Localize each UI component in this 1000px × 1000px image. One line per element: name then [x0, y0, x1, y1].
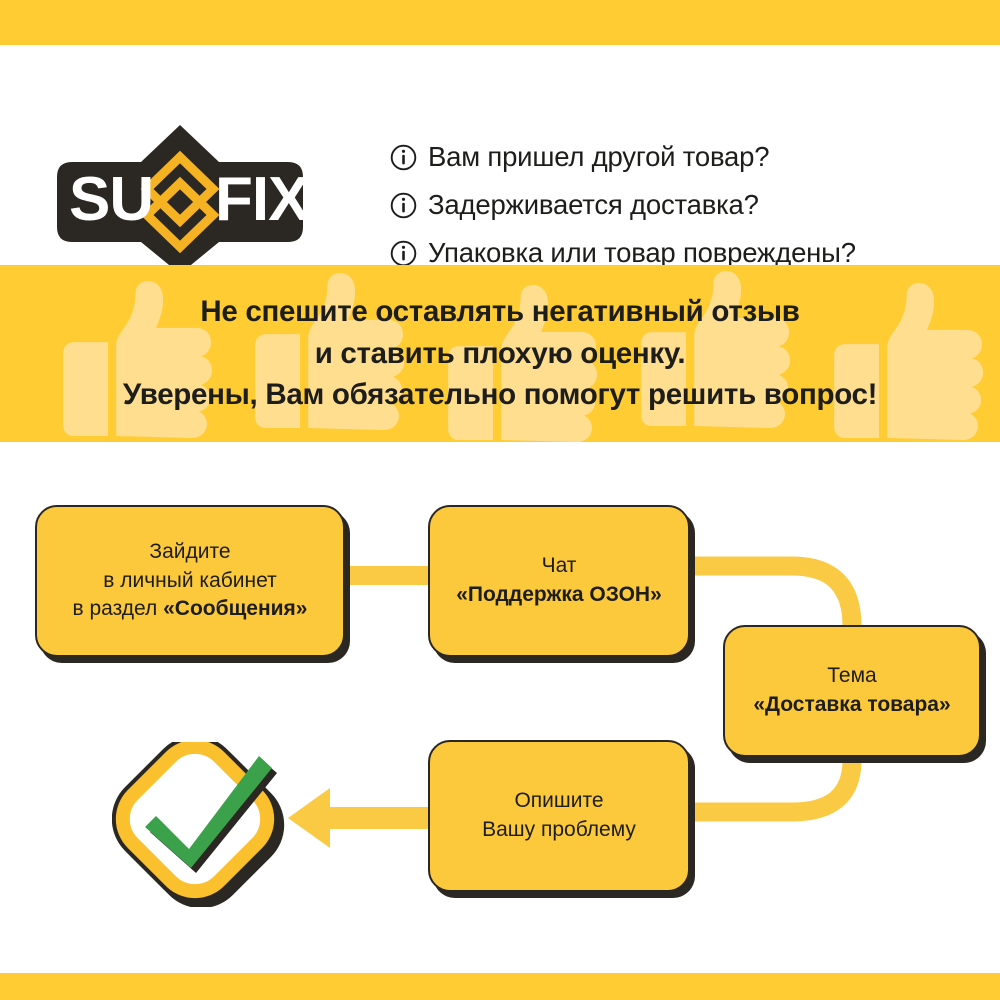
svg-text:FIX: FIX — [215, 165, 309, 234]
step-3-line-1: Тема — [827, 662, 876, 691]
step-2-line-2: «Поддержка ОЗОН» — [456, 581, 662, 610]
step-3-line-2: «Доставка товара» — [753, 691, 950, 720]
step-1-node[interactable]: Зайдите в личный кабинет в раздел «Сообщ… — [35, 505, 345, 657]
check-mark-icon — [112, 742, 310, 907]
top-accent-bar — [0, 0, 1000, 45]
info-icon — [390, 192, 417, 219]
info-icon — [390, 144, 417, 171]
question-row: Вам пришел другой товар? — [390, 133, 990, 181]
banner-line-3: Уверены, Вам обязательно помогут решить … — [123, 374, 877, 416]
banner-line-1: Не спешите оставлять негативный отзыв — [200, 291, 799, 333]
advice-banner: Не спешите оставлять негативный отзыв и … — [0, 265, 1000, 442]
step-1-line-1: Зайдите — [149, 538, 230, 567]
questions-list: Вам пришел другой товар? Задерживается д… — [390, 133, 990, 277]
step-1-line-3b: «Сообщения» — [163, 597, 307, 620]
advice-banner-text: Не спешите оставлять негативный отзыв и … — [0, 265, 1000, 442]
steps-flowchart: Зайдите в личный кабинет в раздел «Сообщ… — [0, 442, 1000, 973]
step-4-node[interactable]: Опишите Вашу проблему — [428, 740, 690, 892]
step-2-line-1: Чат — [542, 552, 577, 581]
question-text: Вам пришел другой товар? — [428, 141, 769, 173]
question-text: Задерживается доставка? — [428, 189, 759, 221]
infographic-page: SU FIX Вам пришел другой товар? — [0, 0, 1000, 1000]
question-row: Задерживается доставка? — [390, 181, 990, 229]
bottom-accent-bar — [0, 973, 1000, 1000]
header-section: SU FIX Вам пришел другой товар? — [0, 45, 1000, 263]
step-3-node[interactable]: Тема «Доставка товара» — [723, 625, 981, 757]
step-1-line-3a: в раздел — [72, 597, 163, 620]
step-1-line-3: в раздел «Сообщения» — [72, 595, 307, 624]
step-4-line-2: Вашу проблему — [482, 816, 636, 845]
step-2-node[interactable]: Чат «Поддержка ОЗОН» — [428, 505, 690, 657]
banner-line-2: и ставить плохую оценку. — [315, 333, 686, 375]
step-1-line-2: в личный кабинет — [103, 567, 276, 596]
svg-text:SU: SU — [69, 165, 153, 234]
info-icon — [390, 240, 417, 267]
step-4-line-1: Опишите — [514, 787, 603, 816]
sufix-logo: SU FIX — [45, 117, 315, 282]
connector-step1-step2 — [338, 566, 436, 585]
